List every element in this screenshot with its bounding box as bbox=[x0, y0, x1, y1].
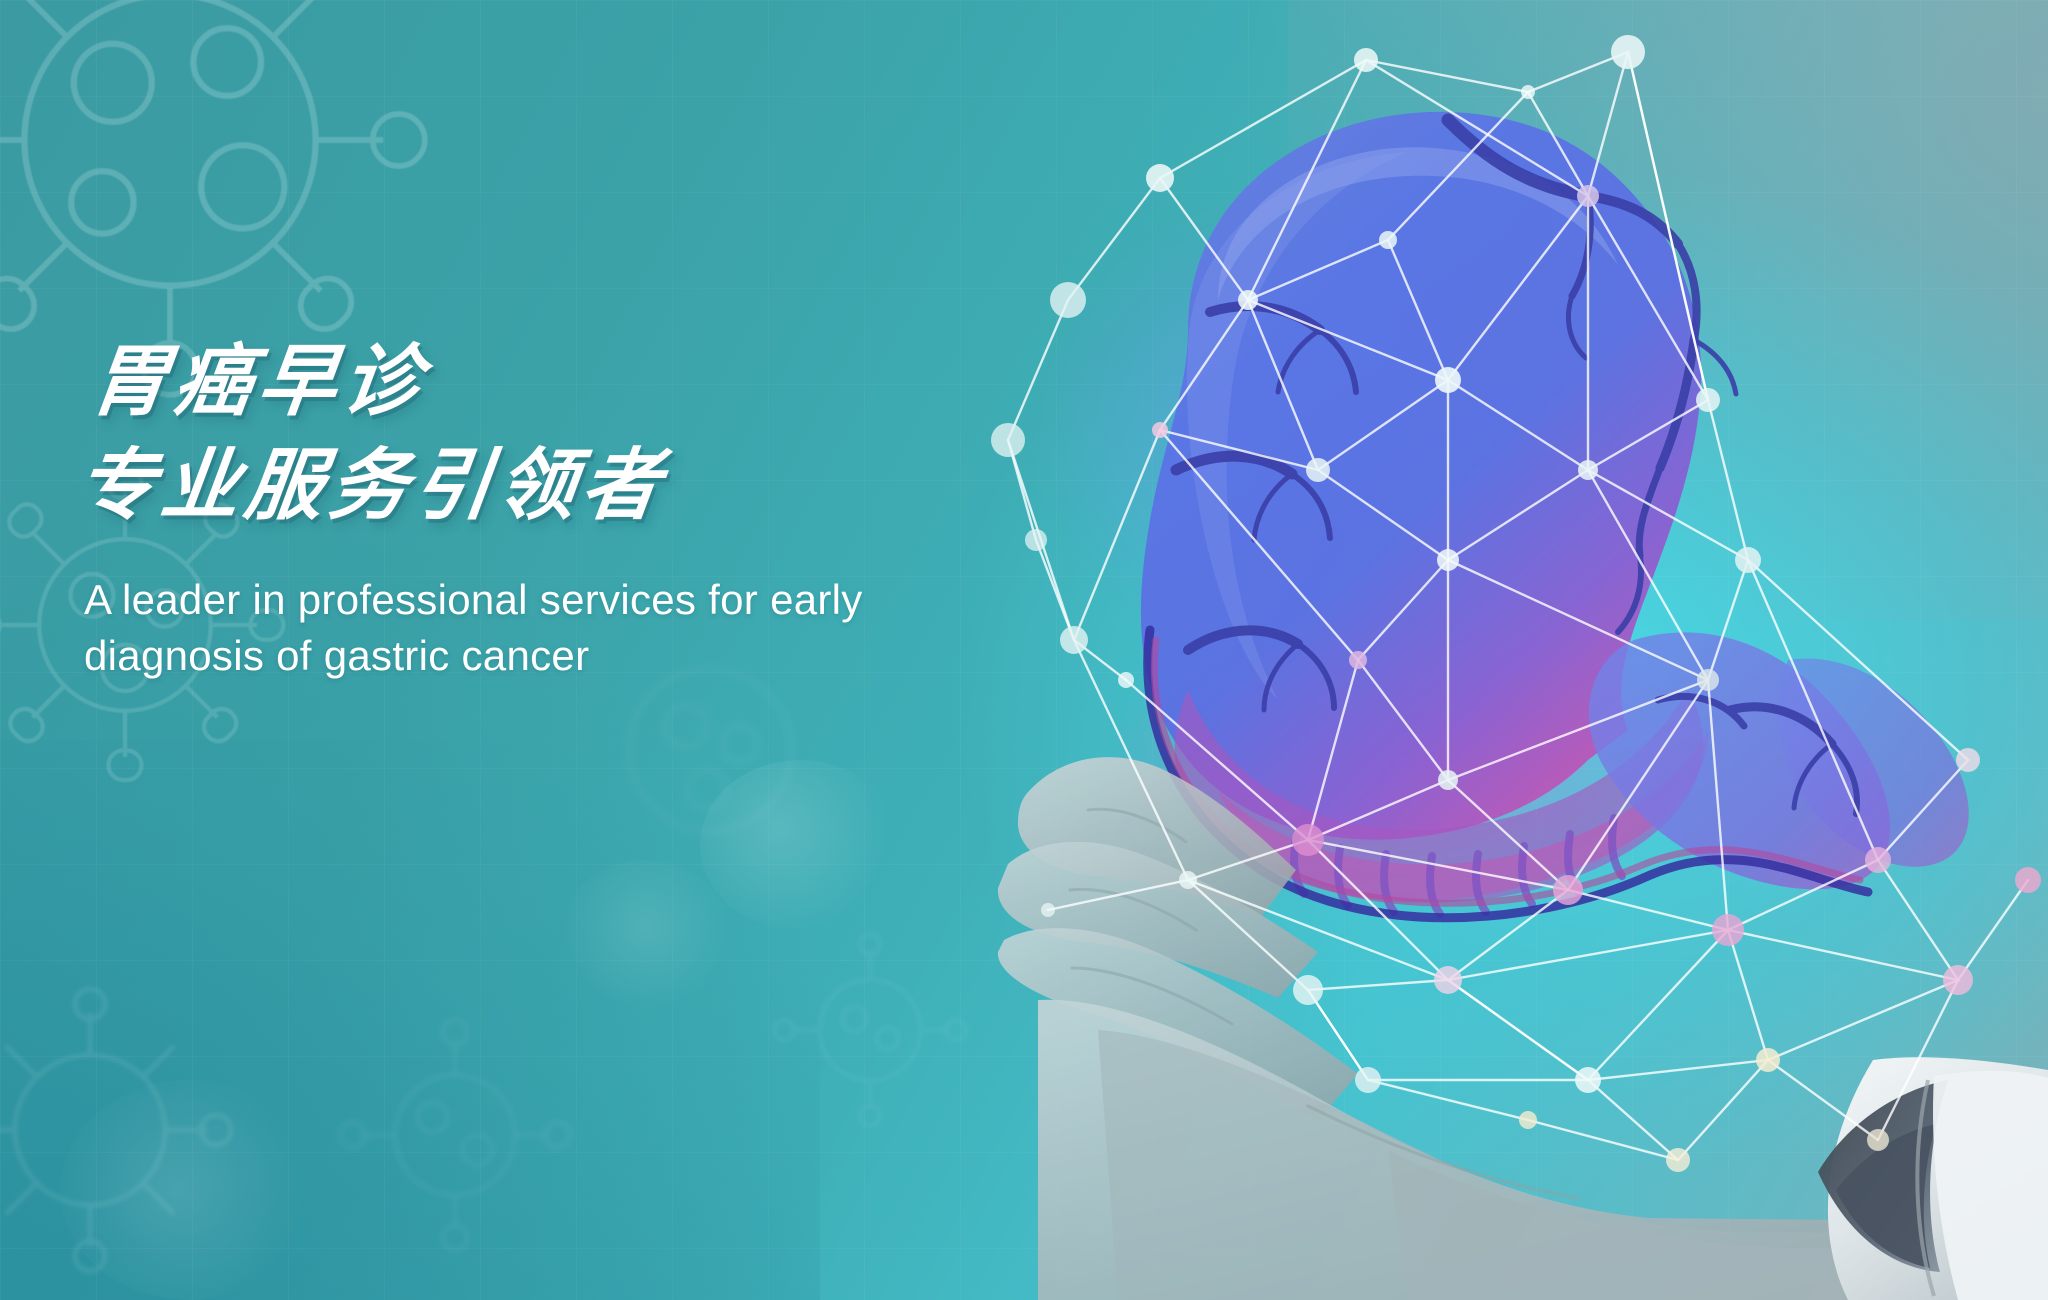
page-subtitle: A leader in professional services for ea… bbox=[84, 572, 874, 684]
hero-text-block: 胃癌早诊 专业服务引领者 A leader in professional se… bbox=[84, 330, 1004, 684]
page-title: 胃癌早诊 专业服务引领者 bbox=[71, 330, 1017, 538]
lab-coat-cuff bbox=[1818, 1057, 2048, 1300]
bokeh-blob bbox=[700, 760, 900, 930]
headline-line-1: 胃癌早诊 bbox=[84, 330, 1017, 434]
bokeh-blob bbox=[60, 1080, 320, 1300]
headline-line-2: 专业服务引领者 bbox=[71, 434, 1004, 538]
virus-cell-icon bbox=[330, 1010, 580, 1260]
stomach-network-hand-illustration bbox=[888, 0, 2048, 1300]
subtitle-line-2: diagnosis of gastric cancer bbox=[84, 632, 589, 679]
hero-banner: 胃癌早诊 专业服务引领者 A leader in professional se… bbox=[0, 0, 2048, 1300]
bokeh-blob bbox=[560, 860, 730, 1010]
subtitle-line-1: A leader in professional services for ea… bbox=[84, 576, 863, 623]
